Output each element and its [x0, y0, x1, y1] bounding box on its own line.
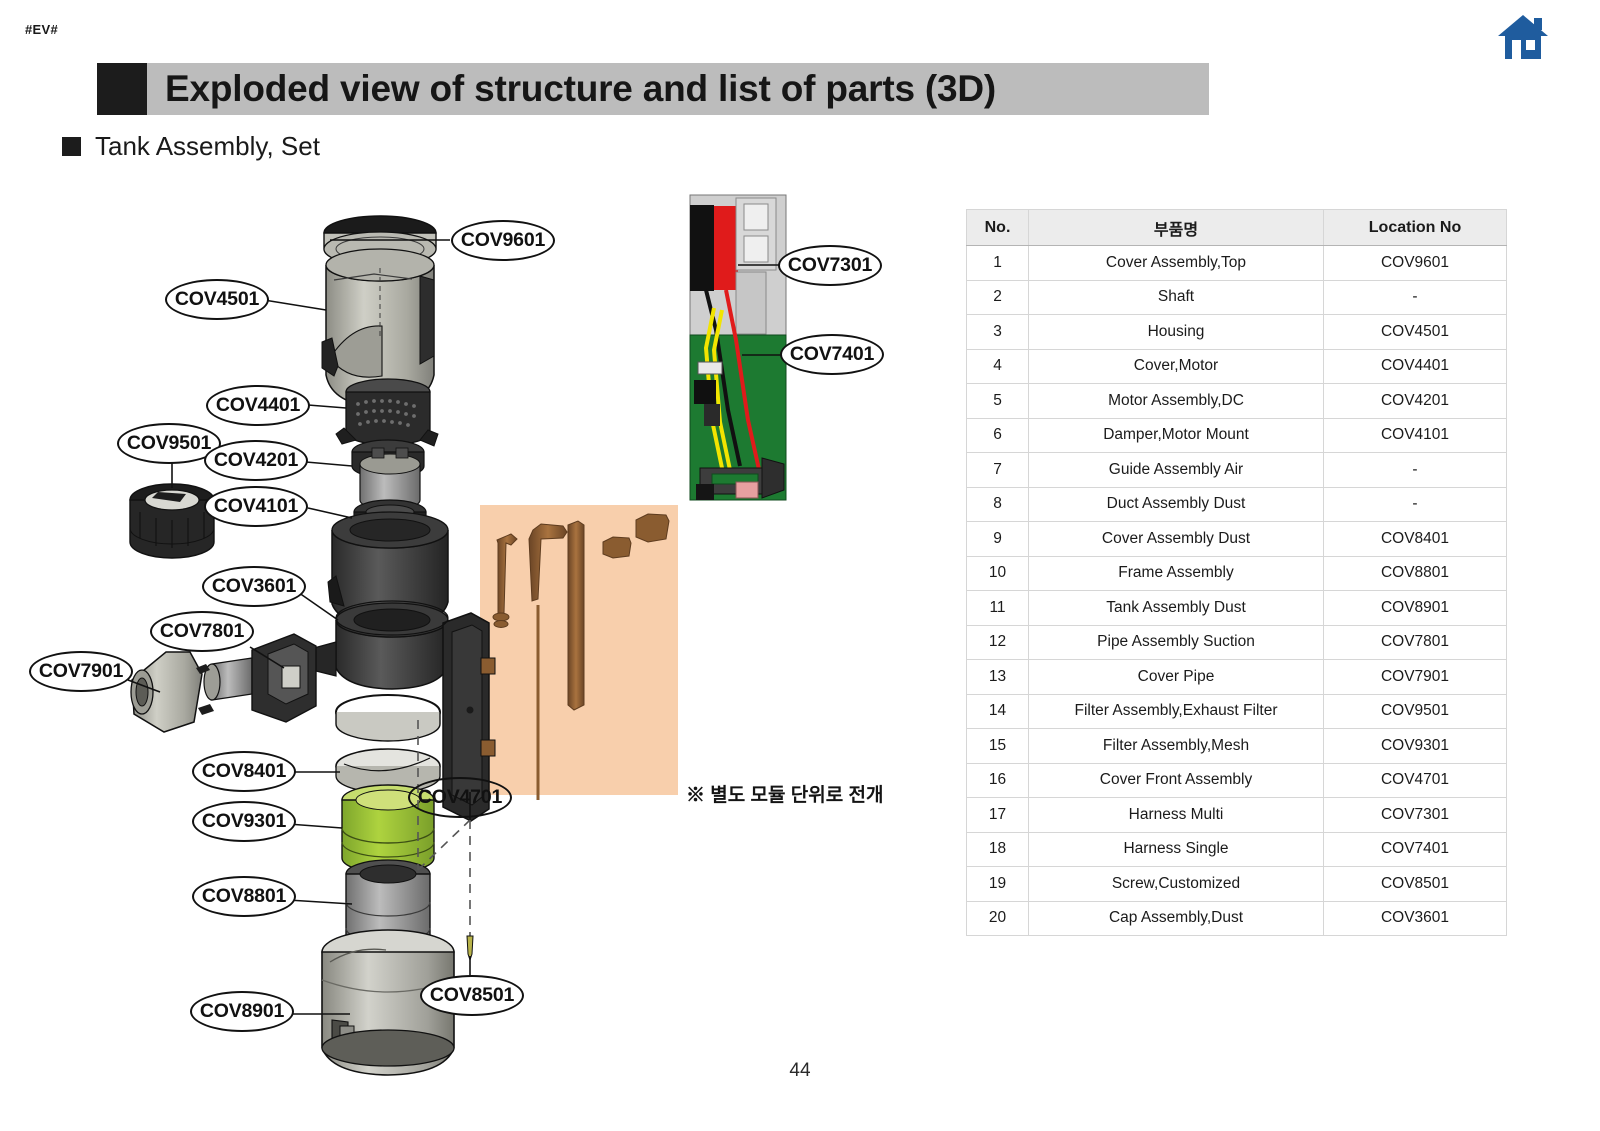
callout-cov3601[interactable]: COV3601 [202, 566, 306, 607]
location-no-cell: COV4501 [1324, 315, 1507, 350]
table-row: 10Frame AssemblyCOV8801 [967, 556, 1507, 591]
location-no-cell: - [1324, 280, 1507, 315]
part-name-cell: Harness Single [1029, 832, 1324, 867]
part-number-cell: 17 [967, 798, 1029, 833]
page-title-bar: Exploded view of structure and list of p… [97, 63, 1209, 115]
part-number-cell: 14 [967, 694, 1029, 729]
location-no-cell: COV7901 [1324, 660, 1507, 695]
part-name-cell: Cover Front Assembly [1029, 763, 1324, 798]
part-cover-pipe [131, 652, 202, 732]
column-header-loc: Location No [1324, 210, 1507, 246]
table-row: 20Cap Assembly,DustCOV3601 [967, 901, 1507, 936]
part-name-cell: Housing [1029, 315, 1324, 350]
callout-cov4201[interactable]: COV4201 [204, 440, 308, 481]
part-number-cell: 16 [967, 763, 1029, 798]
location-no-cell: COV8901 [1324, 591, 1507, 626]
location-no-cell: COV8801 [1324, 556, 1507, 591]
location-no-cell: COV4201 [1324, 384, 1507, 419]
part-number-cell: 7 [967, 453, 1029, 488]
callout-cov7901[interactable]: COV7901 [29, 651, 133, 692]
callout-cov7301[interactable]: COV7301 [778, 245, 882, 286]
part-number-cell: 10 [967, 556, 1029, 591]
part-name-cell: Cover Pipe [1029, 660, 1324, 695]
location-no-cell: COV7301 [1324, 798, 1507, 833]
part-name-cell: Harness Multi [1029, 798, 1324, 833]
location-no-cell: COV8401 [1324, 522, 1507, 557]
table-row: 9Cover Assembly DustCOV8401 [967, 522, 1507, 557]
table-row: 12Pipe Assembly SuctionCOV7801 [967, 625, 1507, 660]
part-name-cell: Motor Assembly,DC [1029, 384, 1324, 419]
location-no-cell: COV4401 [1324, 349, 1507, 384]
part-name-cell: Duct Assembly Dust [1029, 487, 1324, 522]
location-no-cell: COV8501 [1324, 867, 1507, 902]
location-no-cell: - [1324, 453, 1507, 488]
column-header-no: No. [967, 210, 1029, 246]
part-number-cell: 1 [967, 246, 1029, 281]
title-band: Exploded view of structure and list of p… [147, 63, 1209, 115]
callout-cov8801[interactable]: COV8801 [192, 876, 296, 917]
part-number-cell: 18 [967, 832, 1029, 867]
table-row: 4Cover,MotorCOV4401 [967, 349, 1507, 384]
ev-marker: #EV# [25, 22, 58, 37]
part-name-cell: Filter Assembly,Exhaust Filter [1029, 694, 1324, 729]
table-row: 18Harness SingleCOV7401 [967, 832, 1507, 867]
column-header-name: 부품명 [1029, 210, 1324, 246]
part-duct-assembly-dust [312, 603, 462, 689]
table-row: 14Filter Assembly,Exhaust FilterCOV9501 [967, 694, 1507, 729]
part-name-cell: Cover Assembly,Top [1029, 246, 1324, 281]
part-number-cell: 2 [967, 280, 1029, 315]
part-name-cell: Guide Assembly Air [1029, 453, 1324, 488]
square-bullet-icon [62, 137, 81, 156]
part-number-cell: 6 [967, 418, 1029, 453]
pcb-harness-inset [690, 195, 786, 500]
page-number: 44 [0, 1060, 1600, 1082]
table-row: 1Cover Assembly,TopCOV9601 [967, 246, 1507, 281]
location-no-cell: COV7801 [1324, 625, 1507, 660]
table-row: 19Screw,CustomizedCOV8501 [967, 867, 1507, 902]
title-accent-square [97, 63, 147, 115]
table-row: 2Shaft- [967, 280, 1507, 315]
table-row: 17Harness MultiCOV7301 [967, 798, 1507, 833]
part-filter-exhaust [130, 484, 214, 558]
part-number-cell: 4 [967, 349, 1029, 384]
table-row: 13Cover PipeCOV7901 [967, 660, 1507, 695]
location-no-cell: COV4701 [1324, 763, 1507, 798]
part-number-cell: 20 [967, 901, 1029, 936]
part-number-cell: 15 [967, 729, 1029, 764]
location-no-cell: COV4101 [1324, 418, 1507, 453]
location-no-cell: COV9301 [1324, 729, 1507, 764]
part-name-cell: Cover,Motor [1029, 349, 1324, 384]
part-number-cell: 13 [967, 660, 1029, 695]
module-note: ※ 별도 모듈 단위로 전개 [686, 780, 883, 807]
callout-cov8501[interactable]: COV8501 [420, 975, 524, 1016]
table-row: 6Damper,Motor MountCOV4101 [967, 418, 1507, 453]
part-name-cell: Filter Assembly,Mesh [1029, 729, 1324, 764]
part-name-cell: Damper,Motor Mount [1029, 418, 1324, 453]
part-name-cell: Screw,Customized [1029, 867, 1324, 902]
part-number-cell: 11 [967, 591, 1029, 626]
table-row: 8Duct Assembly Dust- [967, 487, 1507, 522]
callout-cov7401[interactable]: COV7401 [780, 334, 884, 375]
page-title: Exploded view of structure and list of p… [147, 68, 996, 110]
location-no-cell: COV9601 [1324, 246, 1507, 281]
table-row: 7Guide Assembly Air- [967, 453, 1507, 488]
part-name-cell: Frame Assembly [1029, 556, 1324, 591]
callout-cov8901[interactable]: COV8901 [190, 991, 294, 1032]
slide-page: #EV# Exploded view of structure and list… [0, 0, 1600, 1131]
section-heading-label: Tank Assembly, Set [95, 131, 320, 162]
part-number-cell: 5 [967, 384, 1029, 419]
callout-cov8401[interactable]: COV8401 [192, 751, 296, 792]
part-cover-assembly-dust [336, 695, 440, 793]
location-no-cell: - [1324, 487, 1507, 522]
section-heading: Tank Assembly, Set [62, 131, 320, 162]
callout-cov4701[interactable]: COV4701 [408, 777, 512, 818]
location-no-cell: COV3601 [1324, 901, 1507, 936]
location-no-cell: COV7401 [1324, 832, 1507, 867]
callout-cov9301[interactable]: COV9301 [192, 801, 296, 842]
part-cover-motor [336, 379, 438, 446]
exploded-diagram [0, 180, 960, 1080]
part-number-cell: 8 [967, 487, 1029, 522]
part-name-cell: Cover Assembly Dust [1029, 522, 1324, 557]
table-header-row: No. 부품명 Location No [967, 210, 1507, 246]
part-number-cell: 19 [967, 867, 1029, 902]
table-row: 11Tank Assembly DustCOV8901 [967, 591, 1507, 626]
parts-table: No. 부품명 Location No 1Cover Assembly,TopC… [966, 209, 1507, 936]
table-row: 15Filter Assembly,MeshCOV9301 [967, 729, 1507, 764]
callout-cov4101[interactable]: COV4101 [204, 486, 308, 527]
location-no-cell: COV9501 [1324, 694, 1507, 729]
part-name-cell: Pipe Assembly Suction [1029, 625, 1324, 660]
module-panel [480, 505, 678, 800]
table-row: 5Motor Assembly,DCCOV4201 [967, 384, 1507, 419]
home-icon[interactable] [1497, 12, 1549, 62]
part-number-cell: 12 [967, 625, 1029, 660]
part-number-cell: 9 [967, 522, 1029, 557]
part-name-cell: Tank Assembly Dust [1029, 591, 1324, 626]
callout-cov4401[interactable]: COV4401 [206, 385, 310, 426]
part-name-cell: Shaft [1029, 280, 1324, 315]
callout-cov7801[interactable]: COV7801 [150, 611, 254, 652]
part-name-cell: Cap Assembly,Dust [1029, 901, 1324, 936]
table-row: 3HousingCOV4501 [967, 315, 1507, 350]
callout-cov9601[interactable]: COV9601 [451, 220, 555, 261]
table-row: 16Cover Front AssemblyCOV4701 [967, 763, 1507, 798]
part-number-cell: 3 [967, 315, 1029, 350]
callout-cov4501[interactable]: COV4501 [165, 279, 269, 320]
